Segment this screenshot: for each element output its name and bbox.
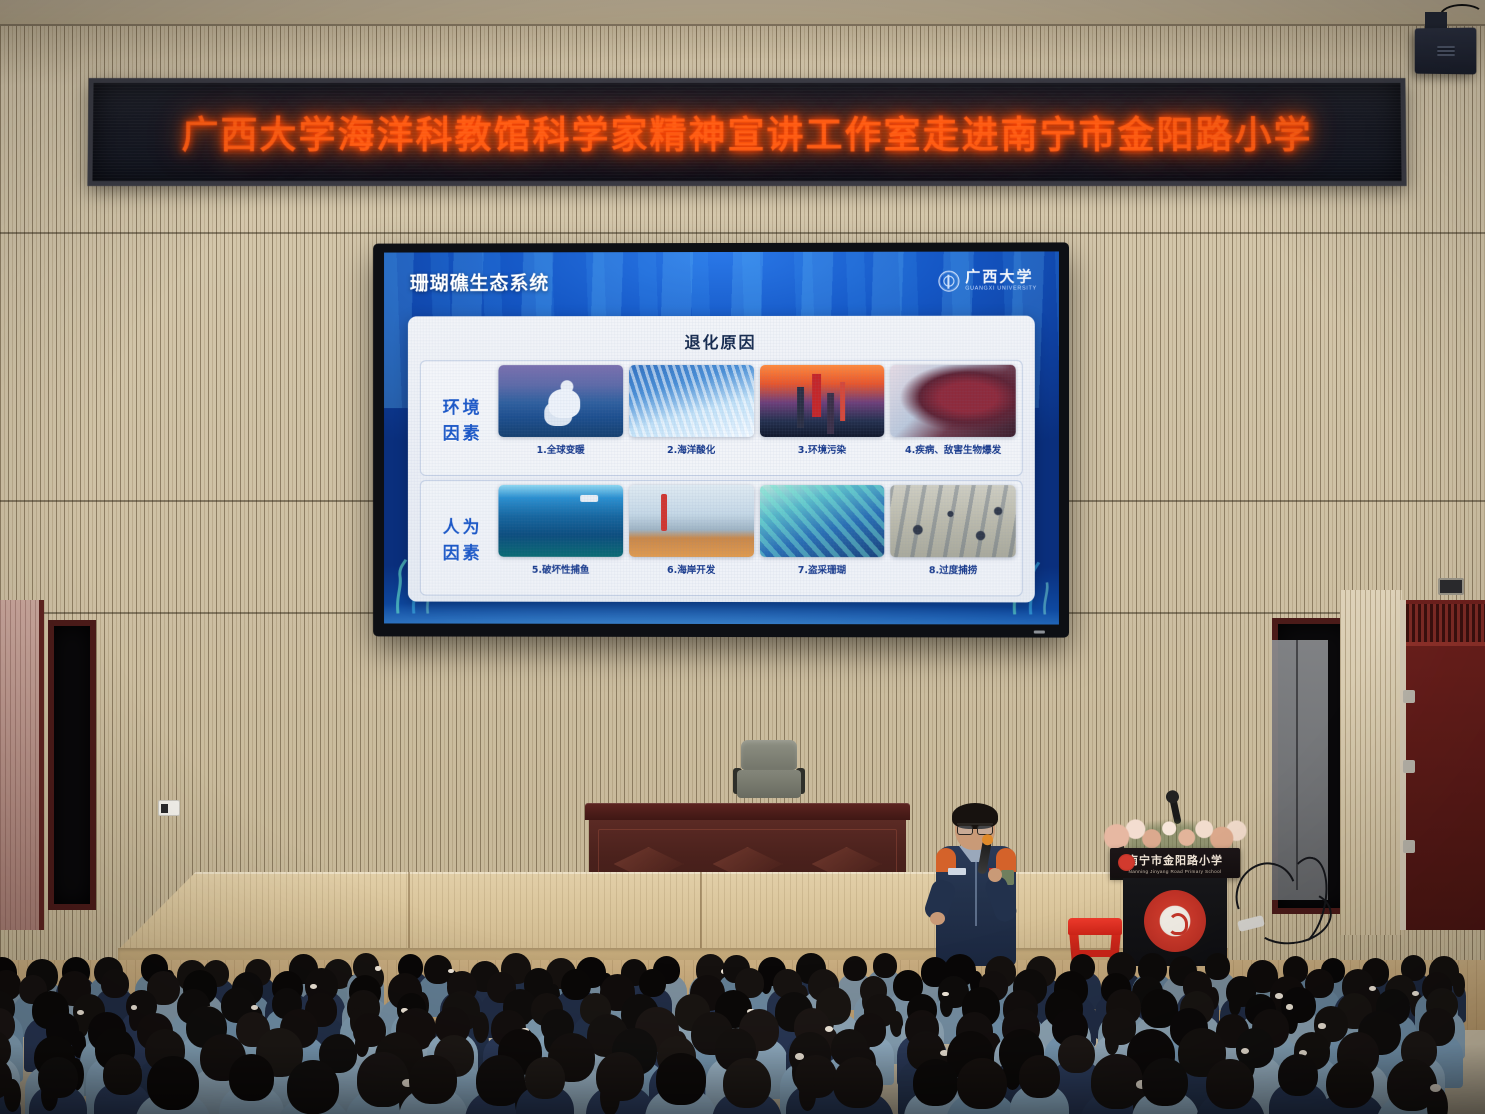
factor-caption: 1.全球变暖 <box>537 442 585 456</box>
student-ponytail <box>41 1079 58 1111</box>
row-label-line1: 人为 <box>443 512 483 537</box>
presenter-right-hand <box>988 868 1002 882</box>
student-ponytail <box>799 1078 816 1111</box>
row-label-line1: 环境 <box>443 393 483 418</box>
right-door-pillar <box>1340 590 1402 935</box>
glasses-icon <box>957 823 993 831</box>
left-alcove <box>0 600 44 930</box>
hair-tie <box>375 966 381 970</box>
factor-row-human: 人为 因素 5.破坏性捕鱼 6.海岸开发 <box>420 480 1023 597</box>
factor-caption: 5.破坏性捕鱼 <box>532 562 590 576</box>
student-head <box>1326 1059 1374 1109</box>
door-transom-grill <box>1406 604 1485 646</box>
circular-seal-icon <box>938 270 959 291</box>
logo-name-en: GUANGXI UNIVERSITY <box>965 286 1037 292</box>
hair-tie <box>1318 1023 1326 1029</box>
wall-sign-plate <box>1438 578 1464 595</box>
student-head <box>913 1059 958 1106</box>
hair-tie <box>1412 991 1419 996</box>
school-emblem-small-icon <box>1118 854 1135 871</box>
factor-cell[interactable]: 8.过度捕捞 <box>890 485 1015 591</box>
slide-canvas: 珊瑚礁生态系统 广西大学 GUANGXI UNIVERSITY <box>384 251 1059 624</box>
student-head <box>1058 1035 1095 1074</box>
name-badge <box>948 868 966 875</box>
executive-chair[interactable] <box>733 740 805 812</box>
banner-text: 广西大学海洋科教馆科学家精神宣讲工作室走进南宁市金阳路小学 <box>181 105 1313 159</box>
slide-section-title: 退化原因 <box>420 329 1023 354</box>
student-head <box>103 1054 143 1095</box>
factor-cell[interactable]: 2.海洋酸化 <box>629 365 754 471</box>
presenter <box>928 806 1024 966</box>
factor-caption: 7.盗采珊瑚 <box>798 562 846 576</box>
school-name-cn: 南宁市金阳路小学 <box>1127 852 1223 868</box>
student-ponytail <box>473 1012 489 1043</box>
school-emblem-center <box>1160 906 1190 936</box>
student-head <box>101 969 129 998</box>
hair-tie <box>1241 1048 1250 1054</box>
row-label-environmental: 环境 因素 <box>427 365 499 471</box>
door-hinge <box>1403 840 1415 853</box>
student-head <box>957 1058 1007 1109</box>
auditorium-scene: 广西大学海洋科教馆科学家精神宣讲工作室走进南宁市金阳路小学 珊瑚礁生态系统 广西… <box>0 0 1485 1114</box>
presenter-left-hand <box>930 912 945 925</box>
student-head <box>723 1058 771 1108</box>
factor-cell[interactable]: 7.盗采珊瑚 <box>760 485 885 591</box>
presentation-display[interactable]: 珊瑚礁生态系统 广西大学 GUANGXI UNIVERSITY <box>373 242 1069 637</box>
factor-cells: 5.破坏性捕鱼 6.海岸开发 7.盗采珊瑚 <box>498 485 1015 591</box>
display-power-led <box>1034 631 1045 634</box>
led-banner: 广西大学海洋科教馆科学家精神宣讲工作室走进南宁市金阳路小学 <box>87 78 1406 186</box>
student-ponytail <box>4 1079 21 1112</box>
factor-caption: 4.疾病、敌害生物爆发 <box>905 442 1001 456</box>
row-label-line2: 因素 <box>443 538 483 563</box>
student-head <box>409 1055 456 1104</box>
hair-tie <box>131 1005 138 1010</box>
student-head <box>147 1056 199 1110</box>
slide-title: 珊瑚礁生态系统 <box>410 268 549 295</box>
school-name-en: Nanning Jinyang Road Primary School <box>1129 869 1222 874</box>
student-head <box>229 1054 274 1101</box>
wall-seam <box>0 232 1485 234</box>
factor-cell[interactable]: 3.环境污染 <box>760 365 885 471</box>
student-head <box>656 1053 706 1105</box>
stool-seat <box>1068 918 1122 935</box>
factor-cells: 1.全球变暖 2.海洋酸化 3.环境污染 <box>498 365 1015 471</box>
overfishing-image <box>890 485 1015 557</box>
hair-tie <box>77 1010 84 1015</box>
door-hinge <box>1403 690 1415 703</box>
desk-surface <box>585 803 910 820</box>
factor-cell[interactable]: 5.破坏性捕鱼 <box>498 485 622 591</box>
hair-tie <box>825 1026 833 1032</box>
ocean-acidification-image <box>629 365 754 437</box>
lectern[interactable]: 南宁市金阳路小学 Nanning Jinyang Road Primary Sc… <box>1110 818 1240 966</box>
disease-outbreak-image <box>890 365 1015 437</box>
coastal-development-image <box>629 485 754 557</box>
left-doorway[interactable] <box>48 620 96 910</box>
ceiling <box>0 0 1485 26</box>
factor-cell[interactable]: 6.海岸开发 <box>629 485 754 591</box>
pa-speaker-icon <box>1415 28 1477 75</box>
logo-name-cn: 广西大学 <box>965 269 1037 284</box>
student-head <box>1278 1054 1319 1096</box>
school-emblem-icon <box>1144 890 1206 952</box>
student-head <box>843 956 867 981</box>
factor-caption: 6.海岸开发 <box>667 562 715 576</box>
chair-seat <box>737 770 801 798</box>
factor-cell[interactable]: 1.全球变暖 <box>498 365 622 471</box>
row-label-human: 人为 因素 <box>427 485 499 591</box>
student-head <box>1019 1055 1060 1098</box>
student-audience <box>0 948 1485 1114</box>
factor-caption: 2.海洋酸化 <box>667 442 715 456</box>
global-warming-image <box>498 365 622 437</box>
factor-rows: 环境 因素 1.全球变暖 2.海洋酸化 <box>420 360 1023 597</box>
lectern-nameplate: 南宁市金阳路小学 Nanning Jinyang Road Primary Sc… <box>1110 848 1240 878</box>
coral-poaching-image <box>760 485 885 557</box>
destructive-fishing-image <box>498 485 622 557</box>
environmental-pollution-image <box>760 365 885 437</box>
wall-switch-plate[interactable] <box>158 800 180 816</box>
door-hinge <box>1403 760 1415 773</box>
factor-caption: 3.环境污染 <box>798 442 846 456</box>
slide-header: 珊瑚礁生态系统 广西大学 GUANGXI UNIVERSITY <box>384 251 1059 310</box>
student-head <box>1206 1059 1254 1109</box>
student-head <box>833 1057 883 1109</box>
factor-cell[interactable]: 4.疾病、敌害生物爆发 <box>890 365 1015 471</box>
stage-seam <box>408 872 410 950</box>
student-head <box>873 953 897 978</box>
student-head <box>639 969 666 997</box>
student-head <box>525 1057 566 1099</box>
student-head <box>287 1060 339 1114</box>
stage-platform <box>118 872 1228 950</box>
student-ponytail <box>600 1078 620 1114</box>
stage-seam <box>700 872 702 950</box>
factor-row-environmental: 环境 因素 1.全球变暖 2.海洋酸化 <box>420 360 1023 476</box>
chair-backrest <box>741 740 797 770</box>
student-head <box>1142 1058 1188 1106</box>
cabinet-divider <box>1296 640 1298 890</box>
factor-caption: 8.过度捕捞 <box>929 562 977 576</box>
row-label-line2: 因素 <box>443 419 483 444</box>
slide-content-card: 退化原因 环境 因素 1.全球变暖 <box>408 316 1035 603</box>
university-logo: 广西大学 GUANGXI UNIVERSITY <box>938 269 1037 292</box>
